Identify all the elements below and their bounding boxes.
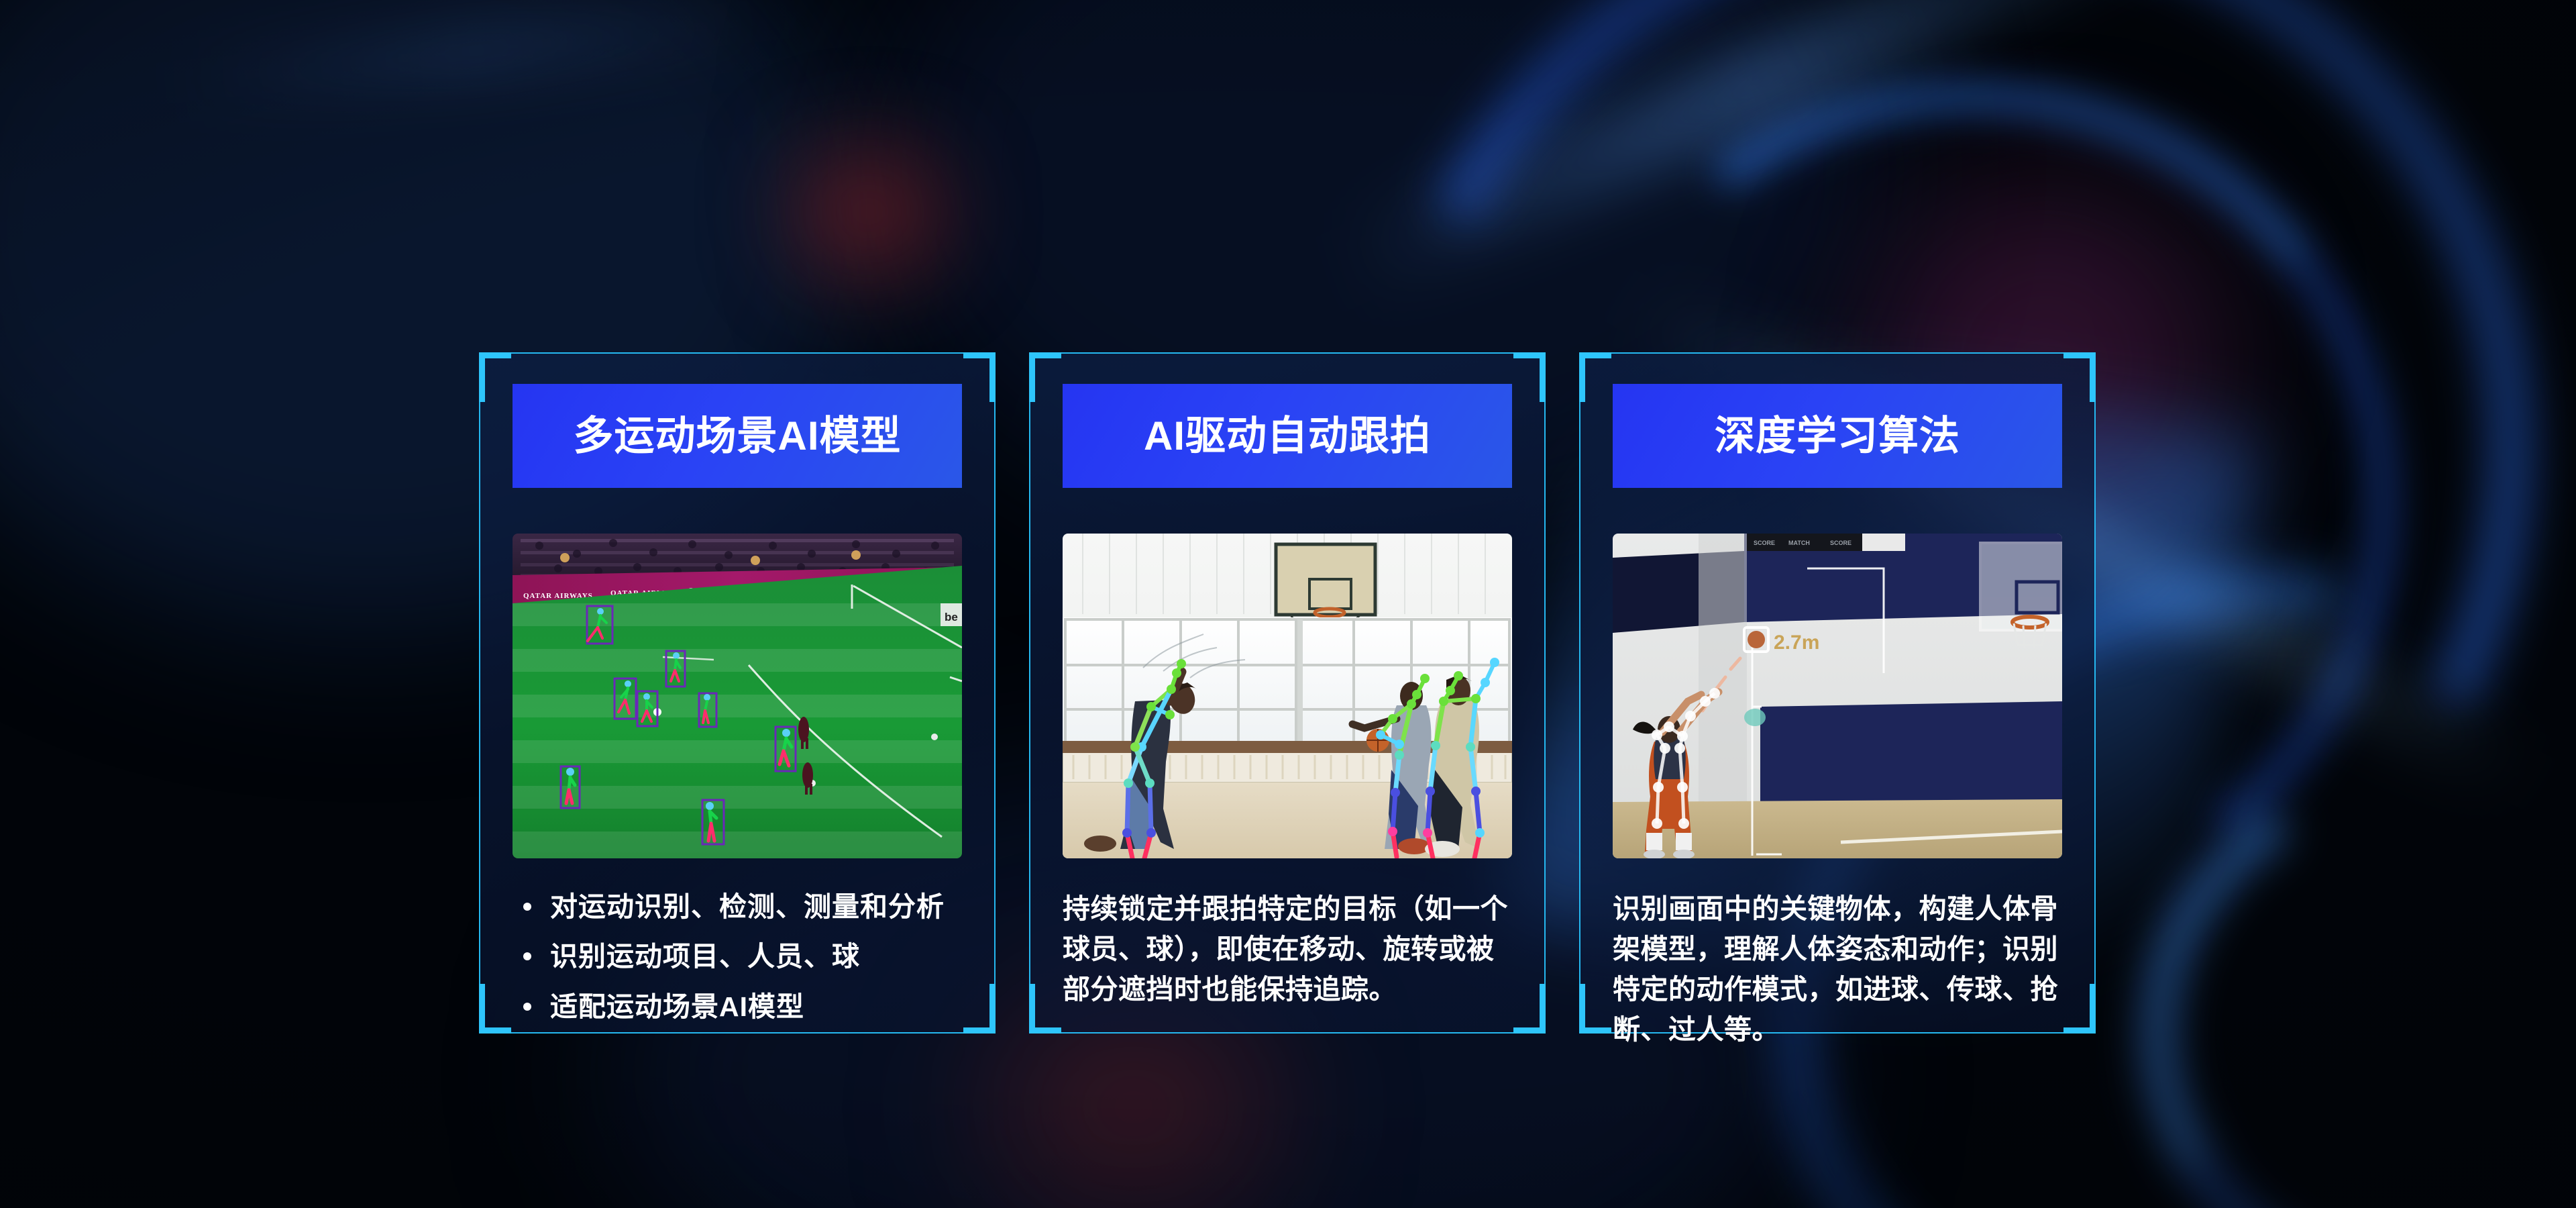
card-title: 多运动场景AI模型 (574, 416, 902, 456)
soccer-detection-thumbnail[interactable]: QATAR AIRWAYS QATAR AIRWAYS QATAR AIRWAY… (513, 534, 962, 858)
card-title: AI驱动自动跟拍 (1144, 416, 1431, 456)
svg-text:SCORE: SCORE (1754, 540, 1775, 546)
list-item: 对运动识别、检测、测量和分析 (513, 889, 962, 924)
list-item: 识别运动项目、人员、球 (513, 939, 962, 974)
feature-bullet-list: 对运动识别、检测、测量和分析 识别运动项目、人员、球 适配运动场景AI模型 (513, 889, 962, 1024)
card-description: 识别画面中的关键物体，构建人体骨架模型，理解人体姿态和动作；识别特定的动作模式，… (1613, 889, 2062, 1050)
svg-text:2.7m: 2.7m (1774, 632, 1819, 654)
svg-text:SCORE: SCORE (1830, 540, 1851, 546)
card-body: 持续锁定并跟拍特定的目标（如一个球员、球），即使在移动、旋转或被部分遮挡时也能保… (1063, 889, 1512, 1010)
feature-card-ai-driven-auto-tracking[interactable]: AI驱动自动跟拍 (1029, 352, 1546, 1034)
list-item: 适配运动场景AI模型 (513, 989, 962, 1024)
feature-card-deep-learning-algorithm[interactable]: 深度学习算法 (1579, 352, 2096, 1034)
svg-text:be: be (945, 611, 958, 623)
card-title-banner: AI驱动自动跟拍 (1063, 384, 1512, 488)
card-title: 深度学习算法 (1715, 416, 1960, 456)
svg-text:MATCH: MATCH (1788, 540, 1810, 546)
shot-measurement-thumbnail[interactable]: SCOREMATCHSCORE (1613, 534, 2062, 858)
card-title-banner: 深度学习算法 (1613, 384, 2062, 488)
card-body: 对运动识别、检测、测量和分析 识别运动项目、人员、球 适配运动场景AI模型 (513, 889, 962, 1039)
basketball-pose-thumbnail[interactable] (1063, 534, 1512, 858)
feature-card-multi-sport-ai-model[interactable]: 多运动场景AI模型 (479, 352, 996, 1034)
card-title-banner: 多运动场景AI模型 (513, 384, 962, 488)
card-body: 识别画面中的关键物体，构建人体骨架模型，理解人体姿态和动作；识别特定的动作模式，… (1613, 889, 2062, 1050)
card-description: 持续锁定并跟拍特定的目标（如一个球员、球），即使在移动、旋转或被部分遮挡时也能保… (1063, 889, 1512, 1010)
